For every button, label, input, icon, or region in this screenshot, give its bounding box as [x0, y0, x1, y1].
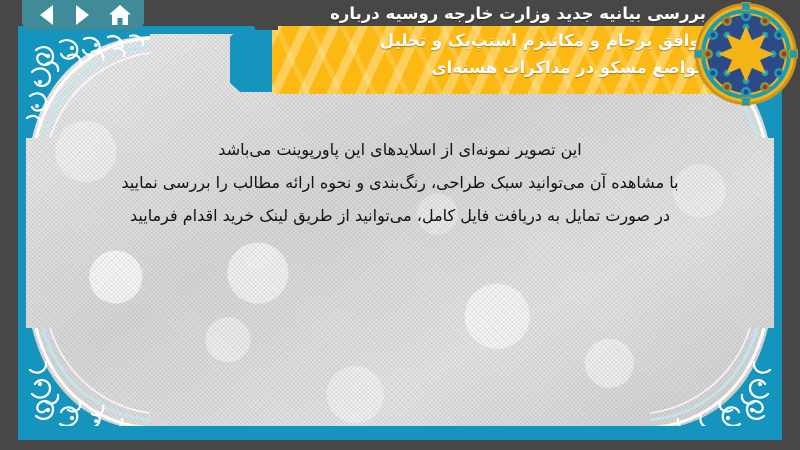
medallion-ornament	[694, 2, 798, 106]
bottom-accent-strip	[18, 426, 782, 440]
header-band	[272, 26, 724, 94]
back-icon	[40, 5, 53, 25]
header-band-pattern	[272, 26, 724, 94]
header-band-tab	[230, 28, 276, 92]
body-line-3: در صورت تمایل به دریافت فایل کامل، می‌تو…	[58, 200, 742, 233]
home-icon	[108, 4, 132, 26]
back-button[interactable]	[32, 3, 60, 27]
forward-button[interactable]	[69, 3, 97, 27]
navigation-bar	[22, 0, 144, 30]
body-line-2: با مشاهده آن می‌توانید سبک طراحی، رنگ‌بن…	[58, 167, 742, 200]
home-button[interactable]	[106, 3, 134, 27]
slide-body-text: این تصویر نمونه‌ای از اسلایدهای این پاور…	[58, 134, 742, 232]
title-line-1: بررسی بیانیه جدید وزارت خارجه روسیه دربا…	[276, 0, 706, 27]
slide-viewer: این تصویر نمونه‌ای از اسلایدهای این پاور…	[0, 0, 800, 450]
body-line-1: این تصویر نمونه‌ای از اسلایدهای این پاور…	[58, 134, 742, 167]
forward-icon	[76, 5, 89, 25]
